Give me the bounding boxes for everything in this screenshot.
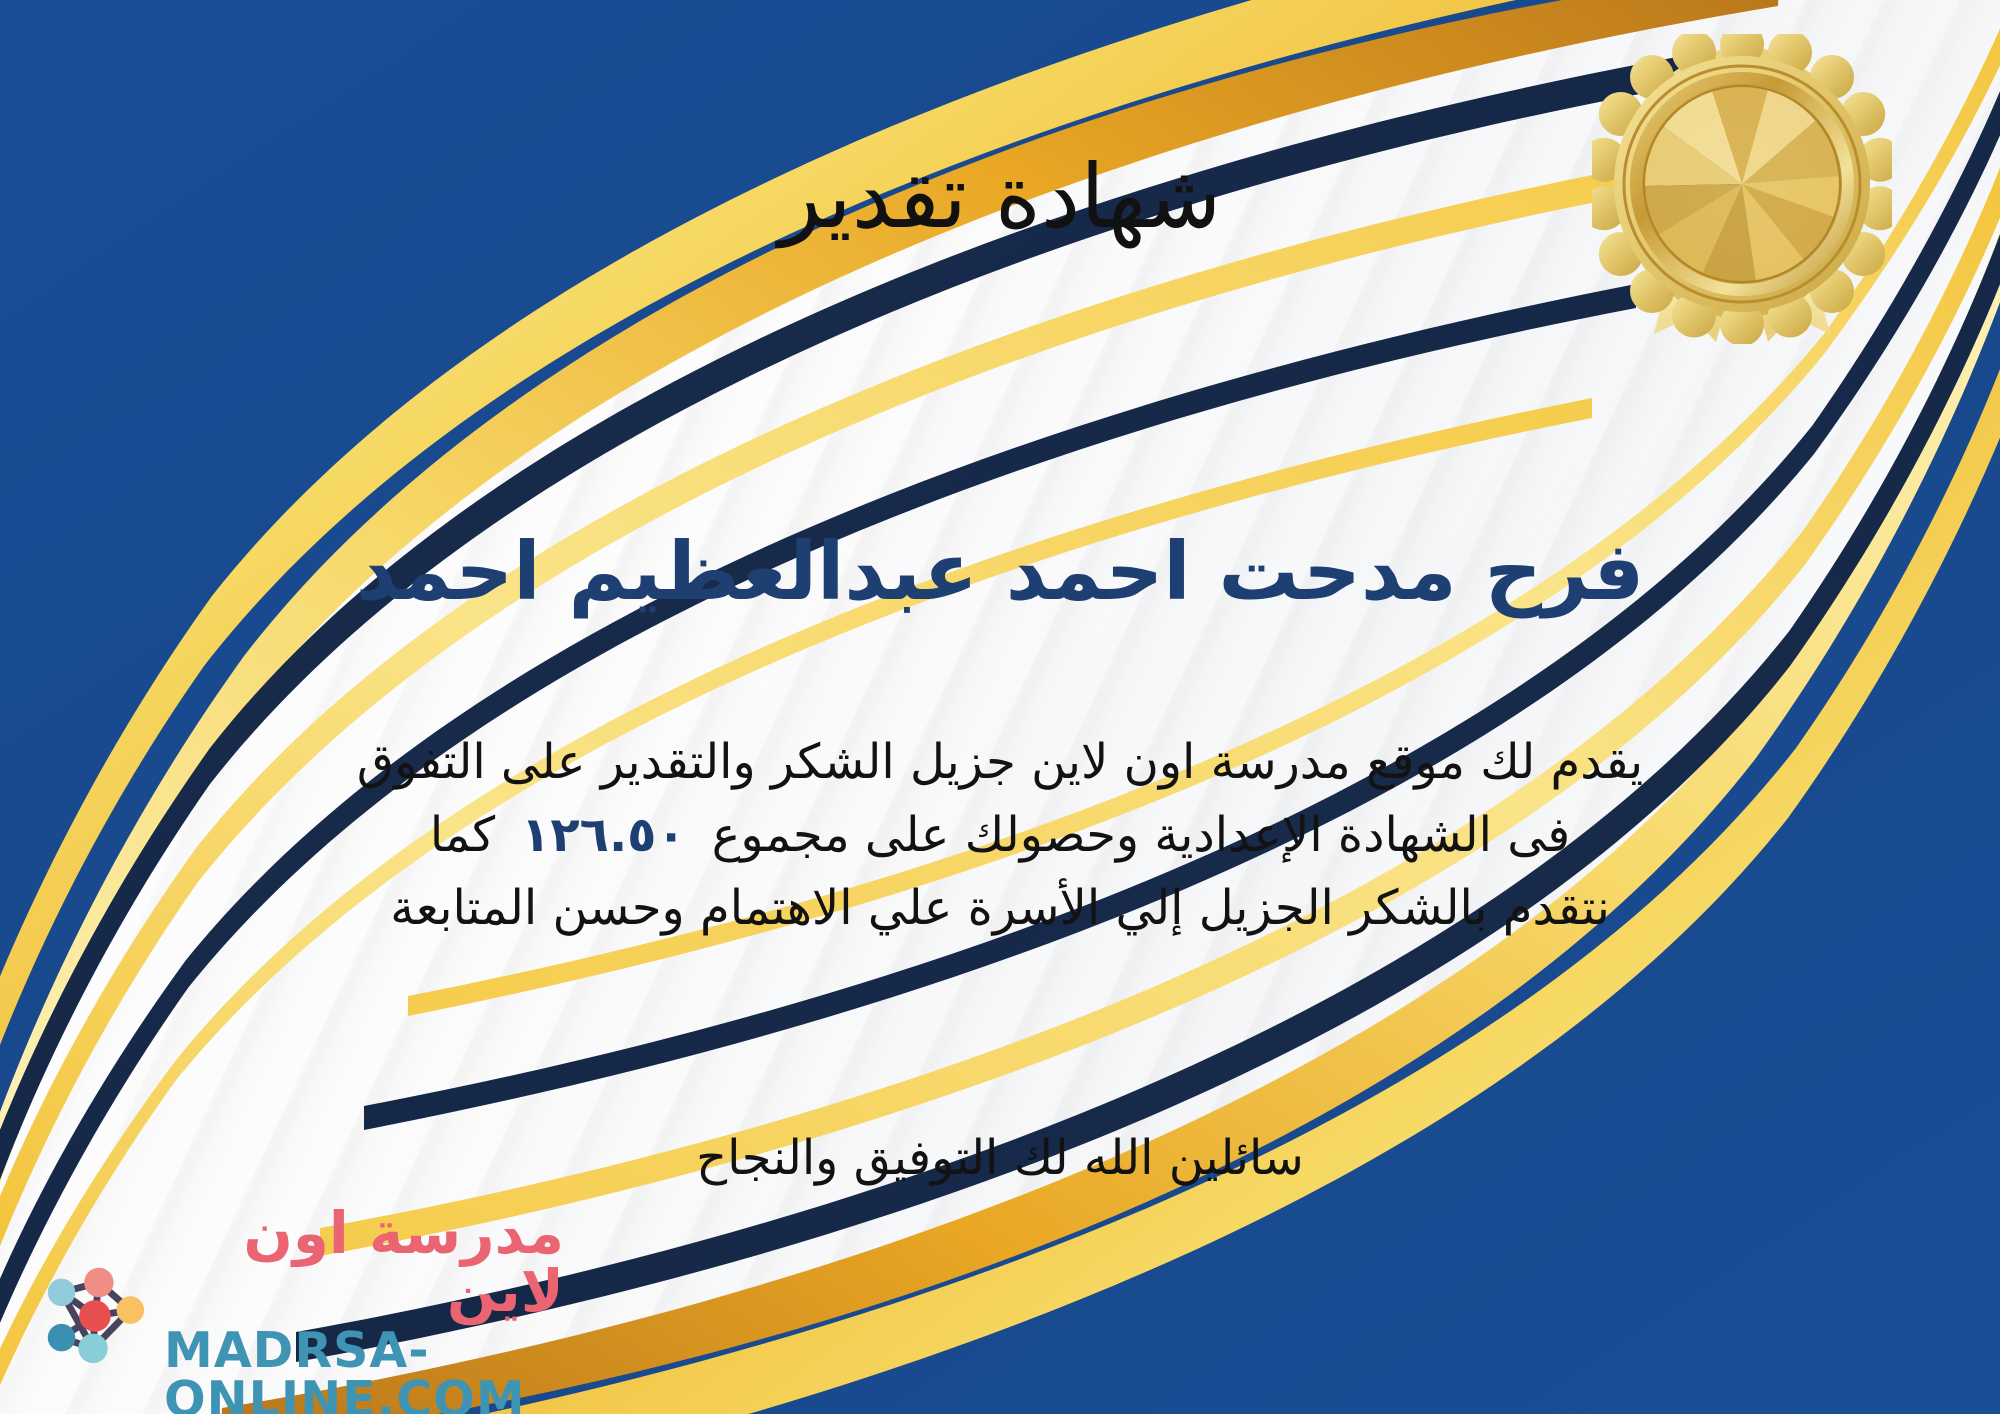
score-value: ١٢٦.٥٠ bbox=[495, 807, 712, 863]
node-salmon bbox=[84, 1268, 114, 1298]
recipient-name: فرح مدحت احمد عبدالعظيم احمد bbox=[0, 524, 2000, 620]
logo-arabic-name: مدرسة اون لاين bbox=[164, 1204, 564, 1320]
node-red bbox=[79, 1300, 110, 1331]
page-title: شهادة تقدير bbox=[0, 146, 2000, 247]
body-line-3: نتقدم بالشكر الجزيل إلي الأسرة علي الاهت… bbox=[120, 872, 1880, 945]
node-orange bbox=[117, 1296, 145, 1324]
body-line-2-suffix: كما bbox=[430, 807, 495, 863]
logo-website: MADRSA-ONLINE.COM bbox=[164, 1326, 564, 1414]
body-line-2: فى الشهادة الإعدادية وحصولك على مجموع١٢٦… bbox=[120, 799, 1880, 872]
body-line-2-prefix: فى الشهادة الإعدادية وحصولك على مجموع bbox=[712, 807, 1570, 863]
node-dark-teal bbox=[48, 1324, 76, 1352]
closing-line: سائلين الله لك التوفيق والنجاح bbox=[0, 1125, 2000, 1192]
node-teal bbox=[78, 1334, 108, 1364]
brand-logo[interactable]: مدرسة اون لاين MADRSA-ONLINE.COM bbox=[34, 1244, 564, 1384]
network-nodes-icon bbox=[34, 1255, 152, 1373]
certificate-body: يقدم لك موقع مدرسة اون لاين جزيل الشكر و… bbox=[120, 726, 1880, 945]
logo-wordmark: مدرسة اون لاين MADRSA-ONLINE.COM bbox=[164, 1204, 564, 1414]
body-line-1: يقدم لك موقع مدرسة اون لاين جزيل الشكر و… bbox=[120, 726, 1880, 799]
certificate-page: شهادة تقدير فرح مدحت احمد عبدالعظيم احمد… bbox=[0, 0, 2000, 1414]
node-light-blue bbox=[48, 1279, 76, 1307]
